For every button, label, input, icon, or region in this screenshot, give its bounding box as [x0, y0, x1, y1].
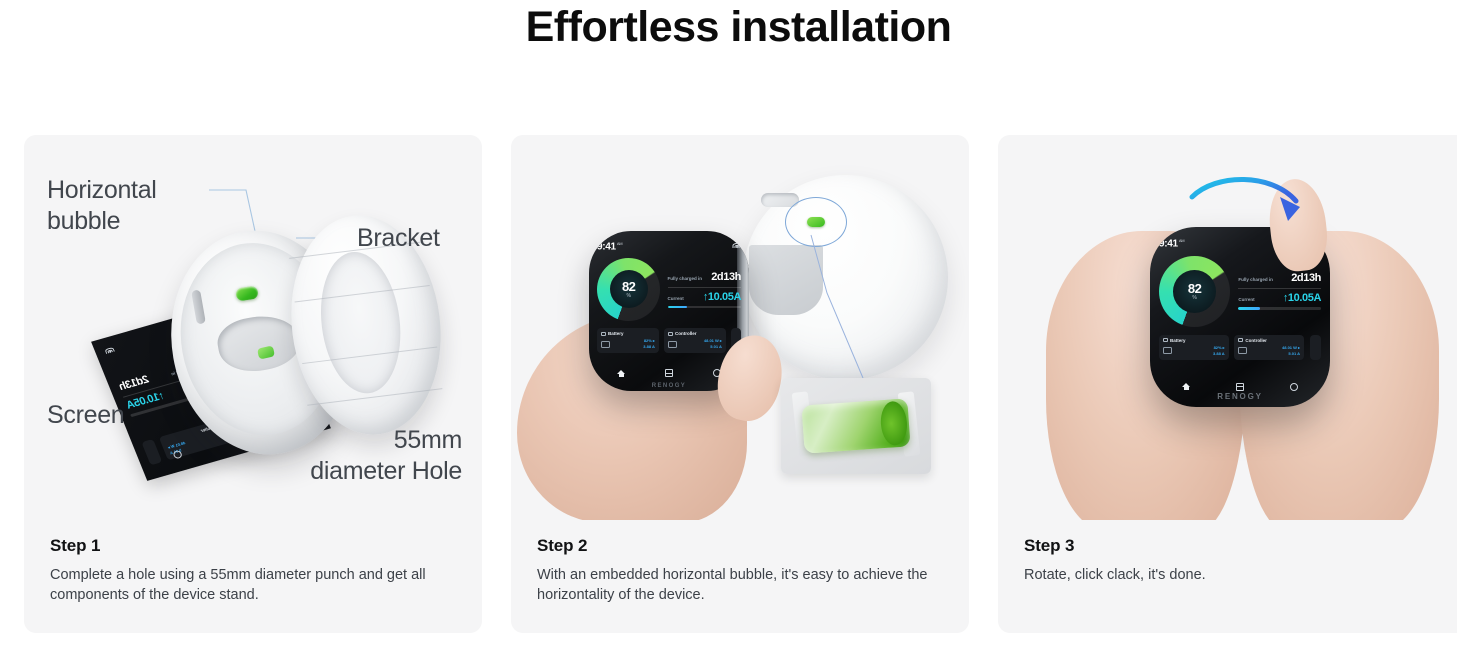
- callout-screen: Screen: [47, 400, 124, 431]
- bubble-vial: [801, 398, 910, 453]
- installation-steps-page: Effortless installation: [0, 0, 1477, 648]
- stat-value-current: ↑10.05A: [1283, 292, 1321, 304]
- battery-percent-unit: %: [1188, 296, 1201, 301]
- step-1-body: Step 1 Complete a hole using a 55mm diam…: [24, 520, 482, 605]
- controller-icon: [1238, 338, 1243, 342]
- battery-glyph: [601, 341, 610, 348]
- current-progress-bar: [668, 306, 741, 309]
- screen-clock: 9:41AM: [597, 241, 622, 252]
- stat-label-charged-in: Fully charged in: [1238, 277, 1273, 282]
- battery-ring-gauge: 82 %: [597, 258, 660, 321]
- step-2-description: With an embedded horizontal bubble, it's…: [537, 565, 937, 605]
- battery-icon: [1163, 338, 1168, 342]
- grid-icon[interactable]: [665, 369, 673, 377]
- step-3-title: Step 3: [1024, 536, 1431, 556]
- controller-icon: [668, 332, 673, 336]
- battery-percent-unit: %: [622, 294, 635, 299]
- tile-battery[interactable]: Battery 82% ▸ 3.88 A: [1159, 335, 1229, 360]
- tile-controller-value-2: 5.01 A: [704, 344, 722, 350]
- controller-glyph: [668, 341, 677, 348]
- wifi-icon: [104, 345, 115, 354]
- step-2-body: Step 2 With an embedded horizontal bubbl…: [511, 520, 969, 605]
- wifi-icon: [732, 241, 741, 248]
- step-1-description: Complete a hole using a 55mm diameter pu…: [50, 565, 450, 605]
- page-title: Effortless installation: [0, 0, 1477, 54]
- tile-controller-title: Controller: [1245, 338, 1267, 343]
- step-1-title: Step 1: [50, 536, 456, 556]
- step-3-description: Rotate, click clack, it's done.: [1024, 565, 1424, 585]
- controller-glyph: [1238, 347, 1247, 354]
- battery-percent-value: 82: [622, 280, 635, 293]
- callout-bracket: Bracket: [357, 223, 440, 254]
- battery-glyph: [1163, 347, 1172, 354]
- battery-percent-value: 82: [1188, 282, 1201, 295]
- tile-controller-value-2: 5.01 A: [1282, 351, 1300, 357]
- step-3-body: Step 3 Rotate, click clack, it's done.: [998, 520, 1457, 585]
- stat-label-current: Current: [1238, 297, 1254, 302]
- tile-controller[interactable]: Controller 48.01 W ▸ 5.01 A: [664, 328, 726, 353]
- stat-label-charged-in: Fully charged in: [668, 276, 703, 281]
- hand-holding-device-with-bubble-inset: 9:41AM 82 %: [511, 135, 969, 520]
- stat-label-current: Current: [668, 296, 684, 301]
- tile-controller[interactable]: Controller 48.01 W ▸ 5.01 A: [1234, 335, 1304, 360]
- device-brand: RENOGY: [1150, 392, 1330, 401]
- exploded-device-diagram: 9:41AM 82 %: [24, 135, 482, 520]
- stat-value-current: ↑10.05A: [703, 291, 741, 303]
- circle-icon[interactable]: [1290, 383, 1298, 391]
- rotate-arrow-icon: [1188, 171, 1318, 246]
- battery-icon: [601, 332, 606, 336]
- tile-battery-title: Battery: [608, 331, 624, 336]
- grid-icon[interactable]: [1236, 383, 1244, 391]
- step-card-2: 9:41AM 82 %: [511, 135, 969, 633]
- callout-horizontal-bubble: Horizontal bubble: [47, 175, 157, 237]
- tile-battery[interactable]: Battery 82% ▸ 3.88 A: [597, 328, 659, 353]
- callout-hole: 55mm diameter Hole: [272, 425, 462, 487]
- battery-ring-gauge: 82 %: [1159, 256, 1230, 327]
- step-3-figure: 9:41AM 82 %: [998, 135, 1457, 520]
- screen-status-bar: 9:41AM: [597, 241, 741, 252]
- current-progress-bar: [1238, 307, 1321, 310]
- home-icon[interactable]: [617, 370, 625, 377]
- two-hands-rotating-device: 9:41AM 82 %: [998, 135, 1457, 520]
- home-icon[interactable]: [1182, 383, 1190, 390]
- tile-battery-value-2: 3.88 A: [643, 344, 655, 350]
- tile-controller-title: Controller: [675, 331, 697, 336]
- step-2-title: Step 2: [537, 536, 943, 556]
- tile-battery-value-2: 3.88 A: [1213, 351, 1225, 357]
- bubble-closeup-inset: [781, 378, 931, 474]
- step-card-3: 9:41AM 82 %: [998, 135, 1457, 633]
- circle-icon[interactable]: [172, 450, 183, 460]
- stat-value-charged-in: 2d13h: [711, 271, 741, 283]
- step-1-figure: 9:41AM 82 %: [24, 135, 482, 520]
- stat-value-charged-in: 2d13h: [1291, 272, 1321, 284]
- tile-battery-title: Battery: [1170, 338, 1186, 343]
- step-2-figure: 9:41AM 82 %: [511, 135, 969, 520]
- step-card-1: 9:41AM 82 %: [24, 135, 482, 633]
- steps-card-row: 9:41AM 82 %: [24, 135, 1477, 633]
- tile-next-partial[interactable]: [1310, 335, 1321, 360]
- screen-clock: 9:41AM: [1159, 238, 1184, 249]
